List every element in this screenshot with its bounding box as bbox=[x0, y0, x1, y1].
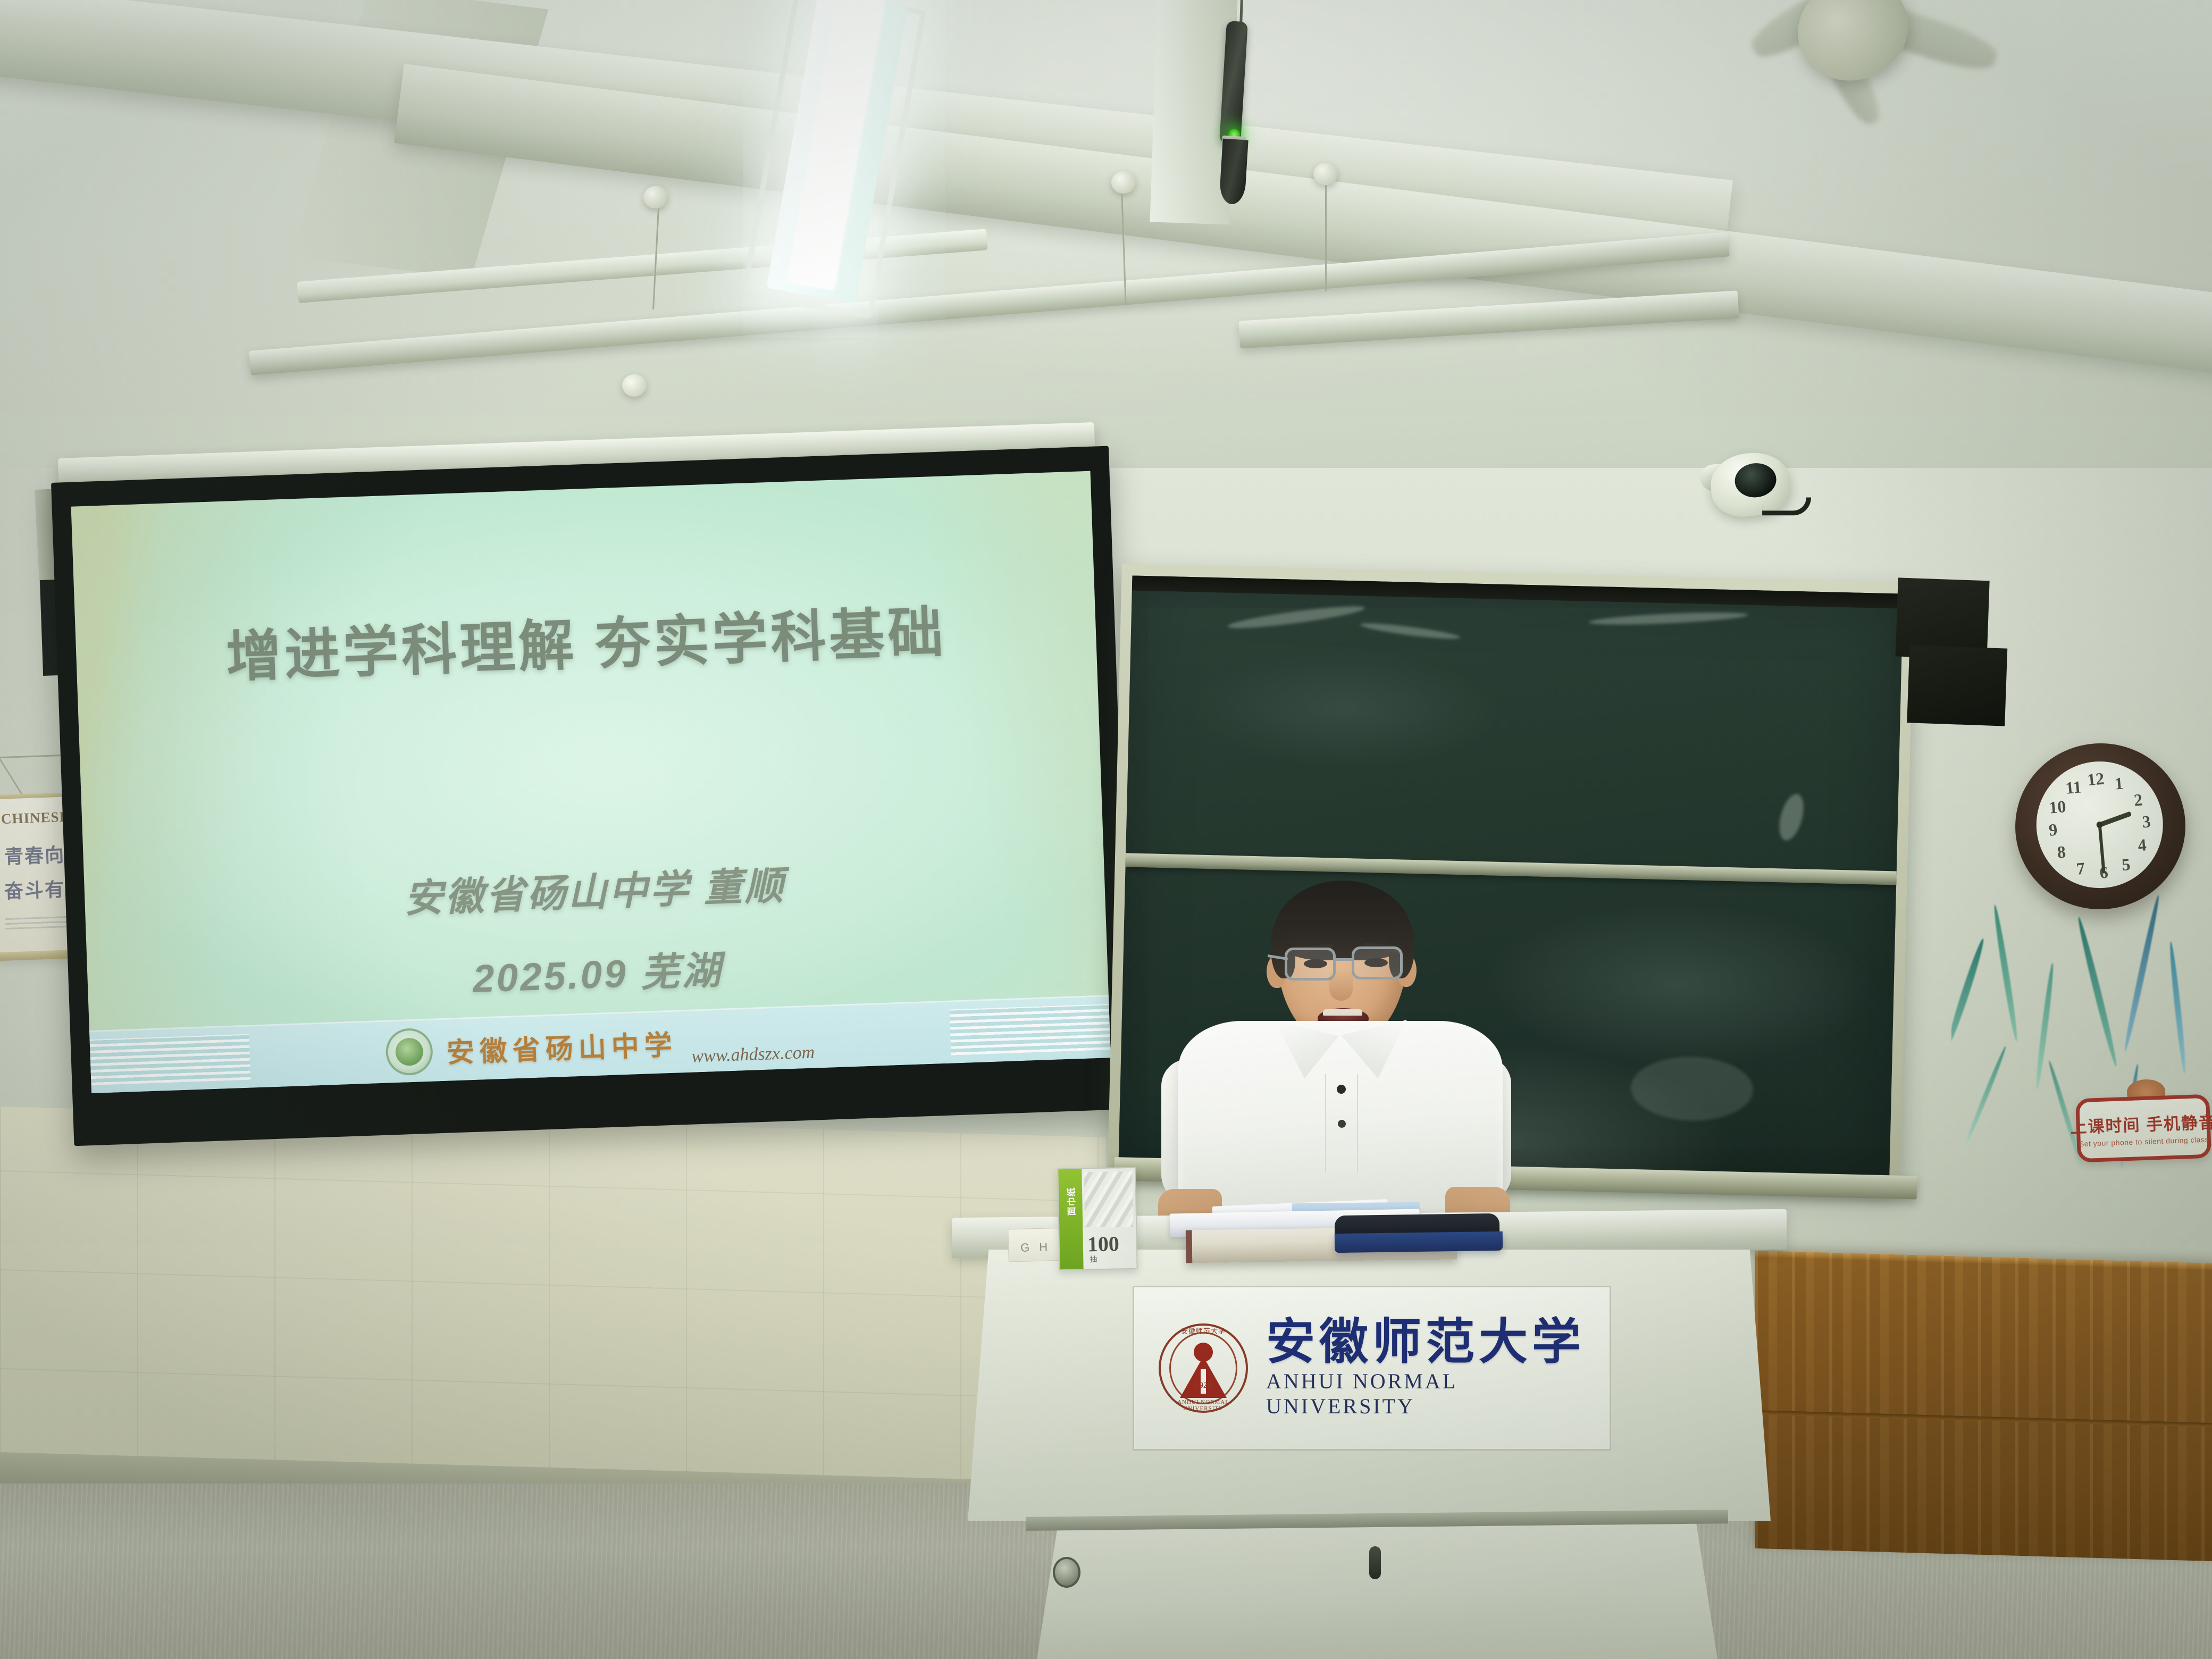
podium-lower-cabinet[interactable] bbox=[1037, 1520, 1717, 1659]
ceiling-anchor-knob bbox=[622, 374, 647, 397]
tissue-box: 面巾纸 100 抽 bbox=[1057, 1167, 1137, 1271]
glasses-lens-left bbox=[1285, 948, 1336, 981]
phone-silence-sign: 上课时间 手机静音 Set your phone to silent durin… bbox=[2075, 1094, 2211, 1163]
tissue-box-count: 100 bbox=[1087, 1231, 1119, 1256]
security-camera-icon-right bbox=[1698, 442, 1807, 532]
emblem-arc-top-text: 安徽师范大学 bbox=[1159, 1326, 1248, 1336]
wooden-cabinet[interactable] bbox=[1755, 1251, 2212, 1561]
ceiling-anchor-knob bbox=[643, 186, 668, 208]
clock-number: 1 bbox=[2114, 774, 2124, 794]
footer-stripe-right bbox=[950, 1004, 1111, 1055]
slide-footer-school-name: 安徽省砀山中学 bbox=[446, 1023, 678, 1070]
presenter-nose bbox=[1329, 970, 1353, 1001]
university-name-block: 安徽师范大学 ANHUI NORMAL UNIVERSITY bbox=[1266, 1318, 1610, 1419]
clock-number: 7 bbox=[2075, 858, 2085, 878]
school-emblem-icon bbox=[385, 1027, 433, 1076]
clock-face: 12 1 2 3 4 5 6 7 8 9 10 11 bbox=[2031, 756, 2168, 893]
podium-cabinet-latch[interactable] bbox=[1369, 1546, 1381, 1579]
university-name-english: ANHUI NORMAL UNIVERSITY bbox=[1266, 1369, 1610, 1419]
polo-button-bottom bbox=[1338, 1120, 1346, 1128]
clock-number: 2 bbox=[2133, 790, 2143, 810]
polo-button-top bbox=[1337, 1085, 1346, 1094]
name-card-text: G H bbox=[1020, 1240, 1051, 1254]
slide-footer-url: www.ahdszx.com bbox=[691, 1043, 815, 1067]
emblem-founding-year: 1928 bbox=[1159, 1381, 1248, 1390]
glasses-bridge bbox=[1336, 958, 1354, 961]
glasses-lens-right bbox=[1352, 946, 1403, 979]
art-branch bbox=[2075, 916, 2119, 1068]
footer-stripe-left bbox=[90, 1034, 251, 1085]
device-case-blue bbox=[1335, 1231, 1503, 1253]
ceiling-anchor-knob bbox=[1111, 171, 1136, 194]
ceiling-anchor-knob bbox=[1313, 163, 1338, 185]
art-branch bbox=[1964, 1045, 2008, 1146]
art-branch bbox=[2168, 941, 2188, 1074]
university-emblem-icon: 安徽师范大学 1928 ANHUI NORMAL UNIVERSITY bbox=[1159, 1323, 1248, 1413]
art-branch bbox=[2122, 894, 2161, 1052]
phone-sign-chinese: 上课时间 手机静音 bbox=[2070, 1109, 2212, 1138]
clock-number: 8 bbox=[2056, 842, 2066, 862]
art-branch bbox=[1992, 904, 2020, 1042]
clock-number: 9 bbox=[2048, 820, 2058, 840]
clock-number: 3 bbox=[2141, 812, 2151, 832]
tissue-box-graphic bbox=[1084, 1171, 1133, 1228]
ceiling-anchor-wire bbox=[1325, 185, 1327, 291]
tiled-wall-lower bbox=[0, 1107, 1106, 1499]
university-name-chinese: 安徽师范大学 bbox=[1266, 1318, 1610, 1367]
cabinet-wood-grain bbox=[1755, 1251, 2212, 1561]
clock-hour-hand bbox=[2099, 811, 2131, 827]
clock-number: 10 bbox=[2048, 797, 2067, 818]
art-branch bbox=[1951, 937, 1987, 1046]
classroom-scene: CHINESEYOUTH 青春向党 奋斗有我 增进学科理解 夯实学科基础 安徽省… bbox=[0, 0, 2212, 1659]
podium-university-plaque: 安徽师范大学 1928 ANHUI NORMAL UNIVERSITY 安徽师范… bbox=[1133, 1286, 1611, 1451]
clock-number: 5 bbox=[2121, 854, 2131, 874]
tissue-box-label: 面巾纸 bbox=[1063, 1176, 1078, 1227]
projection-screen-frame: 增进学科理解 夯实学科基础 安徽省砀山中学 董顺 2025.09 芜湖 安徽省砀… bbox=[51, 446, 1132, 1146]
presenter-teeth bbox=[1323, 1009, 1362, 1016]
podium-cabinet-knob[interactable] bbox=[1053, 1557, 1080, 1588]
tissue-box-unit: 抽 bbox=[1090, 1254, 1097, 1264]
phone-sign-english: Set your phone to silent during class bbox=[2079, 1135, 2209, 1148]
emblem-arc-bottom-text: ANHUI NORMAL UNIVERSITY bbox=[1159, 1399, 1248, 1412]
clock-number: 12 bbox=[2087, 769, 2105, 790]
wall-speaker-icon bbox=[1893, 577, 2009, 725]
projection-screen-surface[interactable]: 增进学科理解 夯实学科基础 安徽省砀山中学 董顺 2025.09 芜湖 安徽省砀… bbox=[71, 471, 1111, 1093]
camera-cable bbox=[1762, 497, 1811, 515]
speaker-lower-box bbox=[1907, 645, 2007, 726]
clock-center-pin bbox=[2096, 822, 2103, 828]
clock-number: 4 bbox=[2137, 835, 2147, 855]
scroll-signature bbox=[5, 914, 70, 929]
tissue-box-green-strip: 面巾纸 bbox=[1058, 1169, 1083, 1270]
clock-number: 11 bbox=[2065, 777, 2082, 798]
